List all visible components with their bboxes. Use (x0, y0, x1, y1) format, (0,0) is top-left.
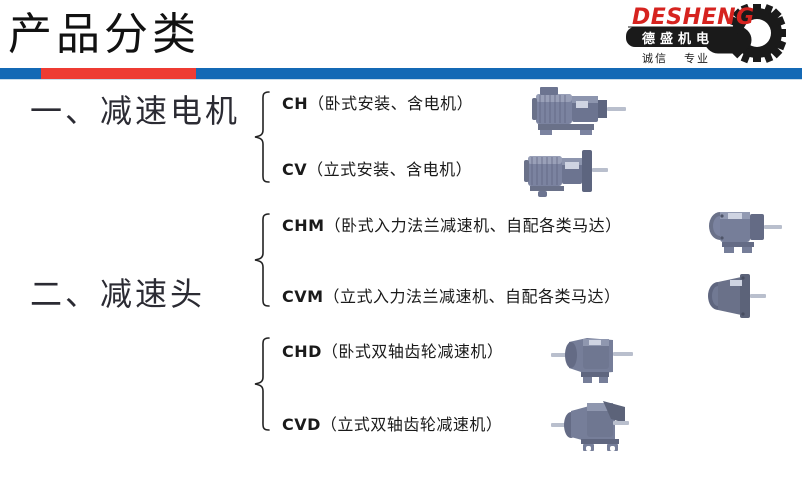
brace-group-2a (252, 212, 272, 308)
horizontal-dual-shaft-reducer-photo (543, 332, 647, 388)
group-heading-2: 二、减速头 (30, 275, 205, 313)
item-desc-chm: （卧式入力法兰减速机、自配各类马达） (325, 216, 622, 235)
group-heading-1: 一、减速电机 (30, 92, 240, 130)
item-label-ch: CH（卧式安装、含电机） (282, 94, 473, 114)
divider-hairline (0, 79, 802, 80)
item-code-chd: CHD (282, 342, 322, 361)
brace-group-2b (252, 336, 272, 432)
logo-brand-cn: 德盛机电 (642, 31, 714, 47)
item-label-cvm: CVM（立式入力法兰减速机、自配各类马达） (282, 287, 621, 307)
item-code-cvm: CVM (282, 287, 324, 306)
company-logo: DESHENG 德盛机电 诚信 专业 (620, 4, 798, 66)
logo-brand-latin: DESHENG (632, 5, 755, 30)
item-label-cv: CV（立式安装、含电机） (282, 160, 472, 180)
item-label-cvd: CVD（立式双轴齿轮减速机） (282, 415, 502, 435)
item-code-ch: CH (282, 94, 308, 113)
horizontal-gear-motor-photo (518, 82, 630, 140)
item-desc-chd: （卧式双轴齿轮减速机） (322, 342, 504, 361)
brace-group-1 (252, 90, 272, 184)
item-desc-ch: （卧式安装、含电机） (308, 94, 473, 113)
item-desc-cv: （立式安装、含电机） (307, 160, 472, 179)
vertical-gear-motor-photo (498, 142, 610, 202)
item-label-chm: CHM（卧式入力法兰减速机、自配各类马达） (282, 216, 622, 236)
item-code-chm: CHM (282, 216, 325, 235)
logo-tagline-left: 诚信 (642, 52, 668, 65)
vertical-dual-shaft-reducer-photo (543, 397, 647, 455)
divider-bar-red (41, 68, 196, 79)
item-desc-cvd: （立式双轴齿轮减速机） (321, 415, 503, 434)
slide-canvas: 产品分类 (0, 0, 802, 483)
page-title: 产品分类 (8, 7, 200, 63)
item-desc-cvm: （立式入力法兰减速机、自配各类马达） (324, 287, 621, 306)
vertical-flange-reducer-photo (694, 266, 798, 324)
item-code-cvd: CVD (282, 415, 321, 434)
item-code-cv: CV (282, 160, 307, 179)
horizontal-flange-reducer-photo (694, 202, 798, 260)
item-label-chd: CHD（卧式双轴齿轮减速机） (282, 342, 503, 362)
logo-tagline-right: 专业 (684, 51, 710, 65)
